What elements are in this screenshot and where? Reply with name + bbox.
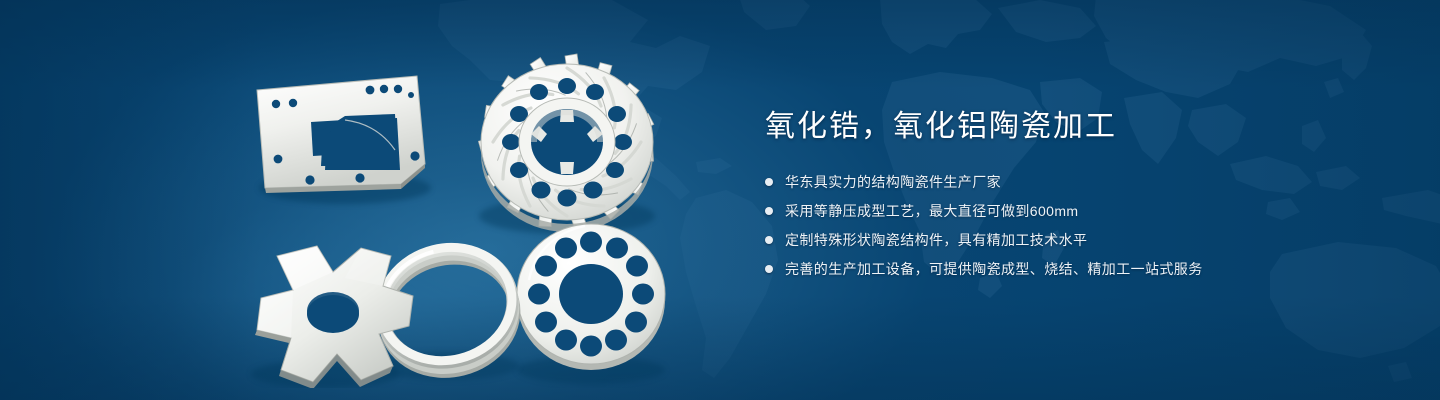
list-item: 华东具实力的结构陶瓷件生产厂家: [765, 172, 1385, 193]
page-title: 氧化锆，氧化铝陶瓷加工: [765, 108, 1385, 146]
list-item: 采用等静压成型工艺，最大直径可做到600mm: [765, 201, 1385, 222]
bullet-dot-icon: [765, 265, 773, 273]
feature-text: 完善的生产加工设备，可提供陶瓷成型、烧结、精加工一站式服务: [785, 259, 1203, 280]
product-banner: 氧化锆，氧化铝陶瓷加工 华东具实力的结构陶瓷件生产厂家 采用等静压成型工艺，最大…: [0, 0, 1440, 400]
banner-copy: 氧化锆，氧化铝陶瓷加工 华东具实力的结构陶瓷件生产厂家 采用等静压成型工艺，最大…: [765, 108, 1385, 288]
feature-text: 华东具实力的结构陶瓷件生产厂家: [785, 172, 1001, 193]
feature-text: 采用等静压成型工艺，最大直径可做到600mm: [785, 201, 1078, 222]
feature-list: 华东具实力的结构陶瓷件生产厂家 采用等静压成型工艺，最大直径可做到600mm 定…: [765, 172, 1385, 280]
bullet-dot-icon: [765, 207, 773, 215]
list-item: 完善的生产加工设备，可提供陶瓷成型、烧结、精加工一站式服务: [765, 259, 1385, 280]
feature-text: 定制特殊形状陶瓷结构件，具有精加工技术水平: [785, 230, 1087, 251]
ceramic-products-image: [225, 28, 695, 388]
list-item: 定制特殊形状陶瓷结构件，具有精加工技术水平: [765, 230, 1385, 251]
bullet-dot-icon: [765, 178, 773, 186]
bullet-dot-icon: [765, 236, 773, 244]
